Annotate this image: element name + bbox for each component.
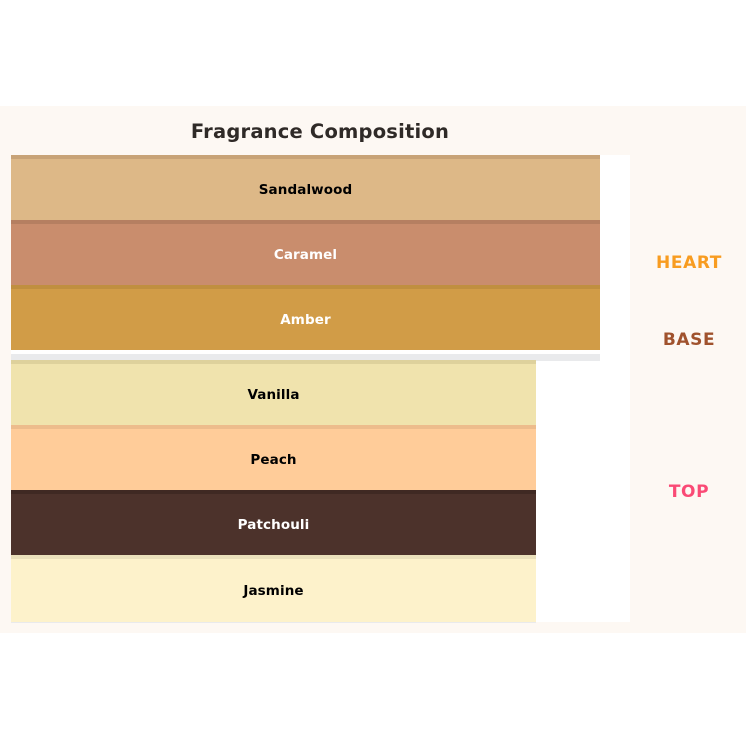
bar-sandalwood[interactable]: Sandalwood	[11, 155, 600, 220]
chart-title: Fragrance Composition	[0, 120, 640, 143]
annotation-heart: HEART	[640, 253, 738, 273]
bar-label-vanilla: Vanilla	[247, 387, 299, 403]
bar-label-peach: Peach	[250, 452, 296, 468]
bar-label-sandalwood: Sandalwood	[259, 182, 353, 198]
chart-figure: Fragrance Composition Sandalwood Caramel…	[0, 106, 746, 633]
bar-patchouli[interactable]: Patchouli	[11, 490, 536, 555]
bar-vanilla[interactable]: Vanilla	[11, 360, 536, 425]
annotation-base: BASE	[640, 330, 738, 350]
bar-label-jasmine: Jasmine	[243, 583, 303, 599]
bar-label-patchouli: Patchouli	[238, 517, 310, 533]
bar-jasmine[interactable]: Jasmine	[11, 555, 536, 622]
bar-caramel[interactable]: Caramel	[11, 220, 600, 285]
bar-peach[interactable]: Peach	[11, 425, 536, 490]
annotation-top: TOP	[640, 482, 738, 502]
bar-amber[interactable]: Amber	[11, 285, 600, 350]
bar-label-caramel: Caramel	[274, 247, 337, 263]
bar-label-amber: Amber	[280, 312, 331, 328]
